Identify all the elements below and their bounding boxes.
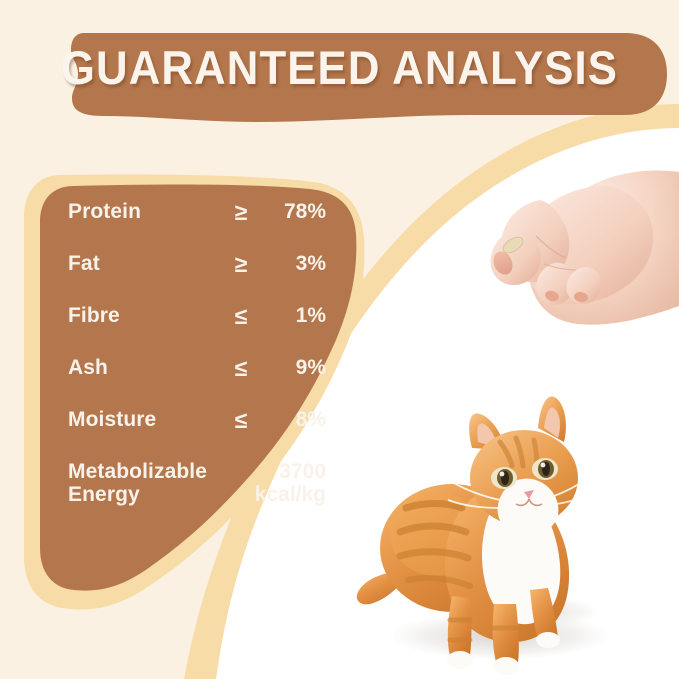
table-row: Fibre ≤ 1% (68, 304, 326, 356)
comparison-symbol: ≤ (218, 408, 264, 432)
title-banner (71, 33, 667, 122)
energy-value: 3700 kcal/kg (228, 460, 326, 506)
comparison-symbol: ≥ (218, 200, 264, 224)
comparison-symbol: ≤ (218, 356, 264, 380)
comparison-symbol: ≤ (218, 304, 264, 328)
energy-label-line2: Energy (68, 483, 228, 506)
nutrient-value: 1% (264, 304, 326, 328)
nutrient-label: Fibre (68, 304, 218, 328)
nutrient-value: 9% (264, 356, 326, 380)
energy-label-line1: Metabolizable (68, 460, 228, 483)
nutrient-label: Moisture (68, 408, 218, 432)
table-row: Protein ≥ 78% (68, 200, 326, 252)
table-row: Ash ≤ 9% (68, 356, 326, 408)
nutrient-label: Fat (68, 252, 218, 276)
table-row: Fat ≥ 3% (68, 252, 326, 304)
product-infographic: GUARANTEED ANALYSIS Protein ≥ 78% Fat ≥ … (0, 0, 679, 679)
comparison-symbol: ≥ (218, 252, 264, 276)
nutrient-value: 78% (264, 200, 326, 224)
energy-value-line1: 3700 (228, 460, 326, 483)
nutrient-value: 8% (264, 408, 326, 432)
table-row: Moisture ≤ 8% (68, 408, 326, 460)
nutrient-label: Protein (68, 200, 218, 224)
energy-label: Metabolizable Energy (68, 460, 228, 506)
nutrient-value: 3% (264, 252, 326, 276)
nutrient-label: Ash (68, 356, 218, 380)
guaranteed-analysis-table: Protein ≥ 78% Fat ≥ 3% Fibre ≤ 1% Ash ≤ … (68, 200, 326, 520)
table-row-energy: Metabolizable Energy 3700 kcal/kg (68, 460, 326, 520)
energy-value-line2: kcal/kg (228, 483, 326, 506)
